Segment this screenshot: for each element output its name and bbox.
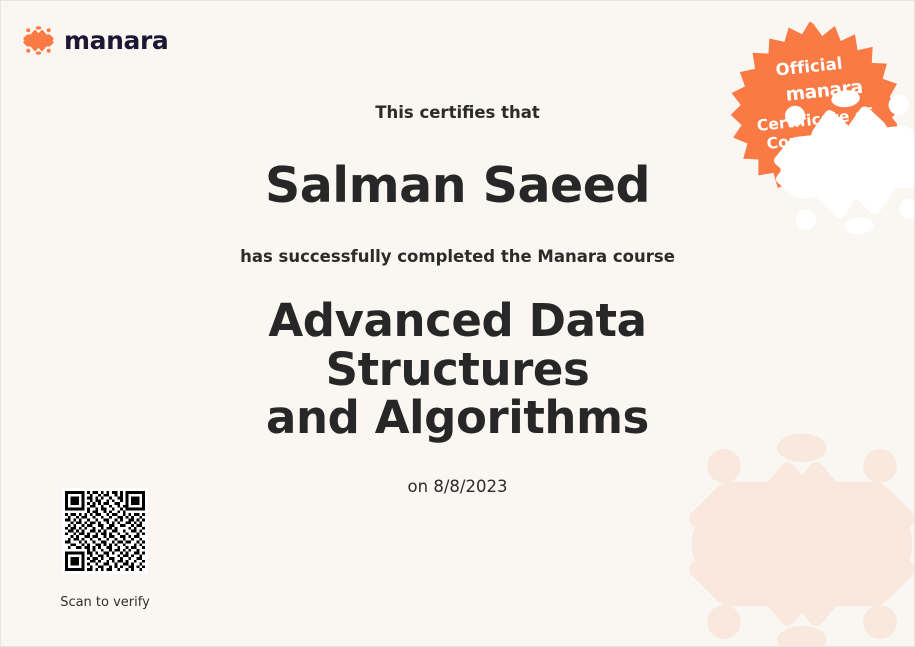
qr-code-icon[interactable]: [62, 488, 148, 574]
verification-block: Scan to verify: [59, 488, 151, 609]
course-title-line-1: Advanced Data Structures: [268, 294, 646, 396]
certificate-page: manara Official: [0, 0, 915, 647]
completion-subtitle: has successfully completed the Manara co…: [1, 249, 914, 266]
manara-rosette-icon: [22, 24, 55, 57]
recipient-name: Salman Saeed: [1, 161, 914, 210]
brand-logo: manara: [22, 24, 168, 57]
verify-caption: Scan to verify: [59, 596, 151, 609]
brand-wordmark: manara: [64, 28, 168, 53]
certificate-body: This certifies that Salman Saeed has suc…: [1, 105, 914, 495]
seal-official-label: Official: [775, 56, 843, 79]
course-title-line-2: and Algorithms: [266, 391, 649, 444]
certifies-lead-text: This certifies that: [1, 105, 914, 122]
seal-brand-logo: manara: [760, 77, 864, 109]
course-title: Advanced Data Structures and Algorithms: [138, 297, 778, 443]
